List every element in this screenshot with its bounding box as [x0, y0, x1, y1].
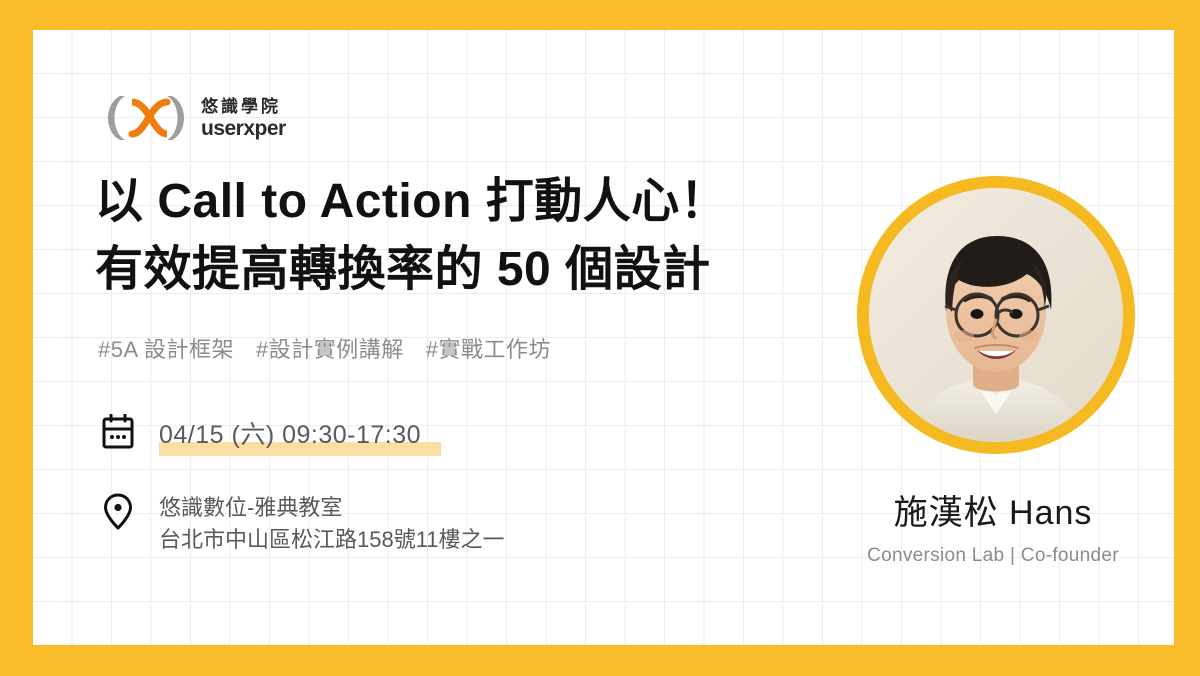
event-date: 04/15 (六) 09:30-17:30 — [159, 414, 427, 454]
topic-tag-list: #5A 設計框架 #設計實例講解 #實戰工作坊 — [98, 332, 551, 364]
topic-tag: #5A 設計框架 — [98, 332, 234, 364]
map-pin-icon — [101, 492, 137, 530]
title-line-1: 以 Call to Action 打動人心！ — [95, 168, 728, 236]
speaker-photo — [857, 176, 1135, 454]
event-poster: 悠識學院 userxper 以 Call to Action 打動人心！ 有效提… — [0, 0, 1200, 676]
calendar-icon — [101, 414, 137, 452]
speaker-info: 施漢松 Hans Conversion Lab | Co-founder — [793, 492, 1174, 567]
venue-address: 台北市中山區松江路158號11樓之一 — [159, 525, 505, 555]
brackets-x-logo-icon — [101, 92, 191, 144]
event-location-row: 悠識數位-雅典教室 台北市中山區松江路158號11樓之一 — [101, 492, 505, 554]
topic-tag: #實戰工作坊 — [426, 332, 551, 364]
brand-logo: 悠識學院 userxper — [101, 92, 286, 144]
brand-name-en: userxper — [201, 118, 286, 139]
poster-canvas: 悠識學院 userxper 以 Call to Action 打動人心！ 有效提… — [33, 30, 1174, 645]
topic-tag: #設計實例講解 — [256, 332, 404, 364]
speaker-role: Conversion Lab | Co-founder — [793, 545, 1174, 567]
event-date-label: 04/15 (六) 09:30-17:30 — [159, 421, 421, 449]
event-date-row: 04/15 (六) 09:30-17:30 — [101, 414, 427, 454]
page-title: 以 Call to Action 打動人心！ 有效提高轉換率的 50 個設計 — [95, 168, 728, 304]
brand-wordmark: 悠識學院 userxper — [201, 98, 286, 139]
brand-name-cn: 悠識學院 — [201, 98, 286, 115]
event-location: 悠識數位-雅典教室 台北市中山區松江路158號11樓之一 — [159, 492, 505, 554]
venue-name: 悠識數位-雅典教室 — [159, 493, 505, 523]
title-line-2: 有效提高轉換率的 50 個設計 — [95, 236, 728, 304]
speaker-name: 施漢松 Hans — [793, 492, 1174, 535]
